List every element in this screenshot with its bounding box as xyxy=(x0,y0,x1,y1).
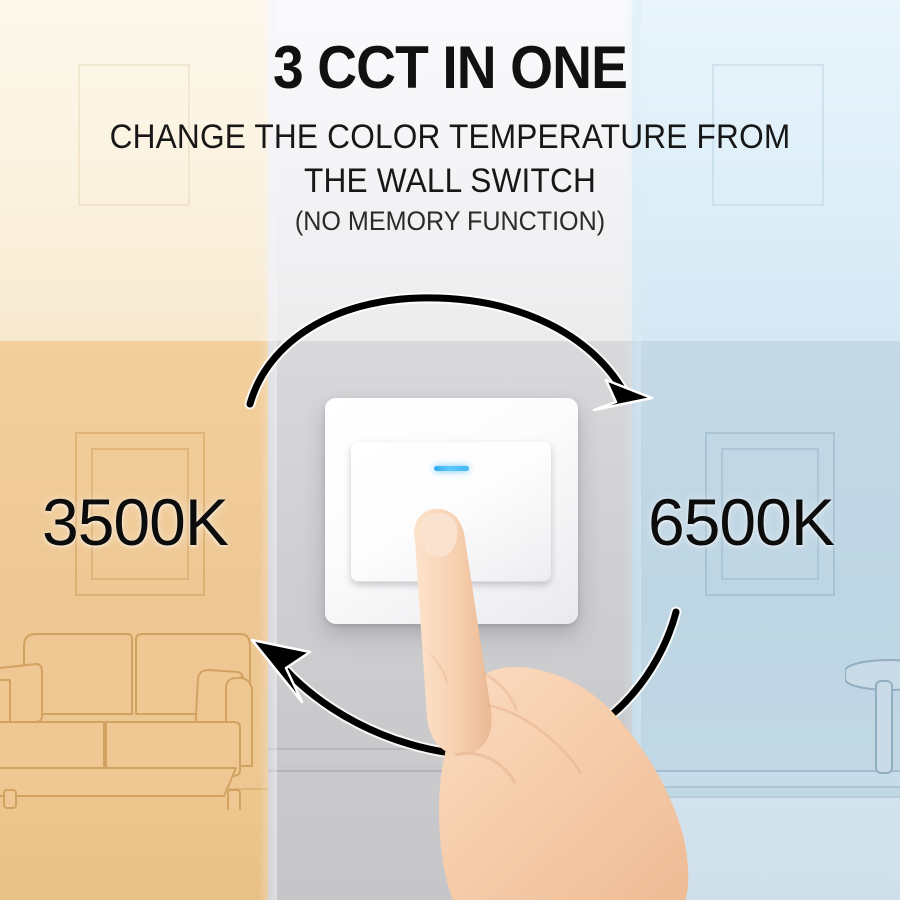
heading-block: 3 CCT IN ONE CHANGE THE COLOR TEMPERATUR… xyxy=(0,36,900,239)
baseboard-neutral xyxy=(268,748,632,764)
baseboard-cool xyxy=(632,770,900,788)
temperature-label-cool: 6500K xyxy=(648,484,834,560)
subtitle-line-2: THE WALL SWITCH xyxy=(78,159,822,203)
floor-warm xyxy=(0,788,268,900)
product-infographic: 3500K 6500K 3 CCT IN ONE CHANGE THE COLO… xyxy=(0,0,900,900)
note-text: (NO MEMORY FUNCTION) xyxy=(32,205,869,239)
subtitle: CHANGE THE COLOR TEMPERATURE FROM THE WA… xyxy=(78,115,822,203)
floor-cool xyxy=(632,796,900,900)
temperature-label-warm: 3500K xyxy=(42,484,228,560)
switch-rocker-button[interactable] xyxy=(351,442,551,582)
subtitle-line-1: CHANGE THE COLOR TEMPERATURE FROM xyxy=(78,115,822,159)
page-title: 3 CCT IN ONE xyxy=(36,36,864,101)
led-indicator-icon xyxy=(434,466,469,471)
floor-neutral xyxy=(268,770,632,900)
wall-switch[interactable] xyxy=(325,398,578,624)
